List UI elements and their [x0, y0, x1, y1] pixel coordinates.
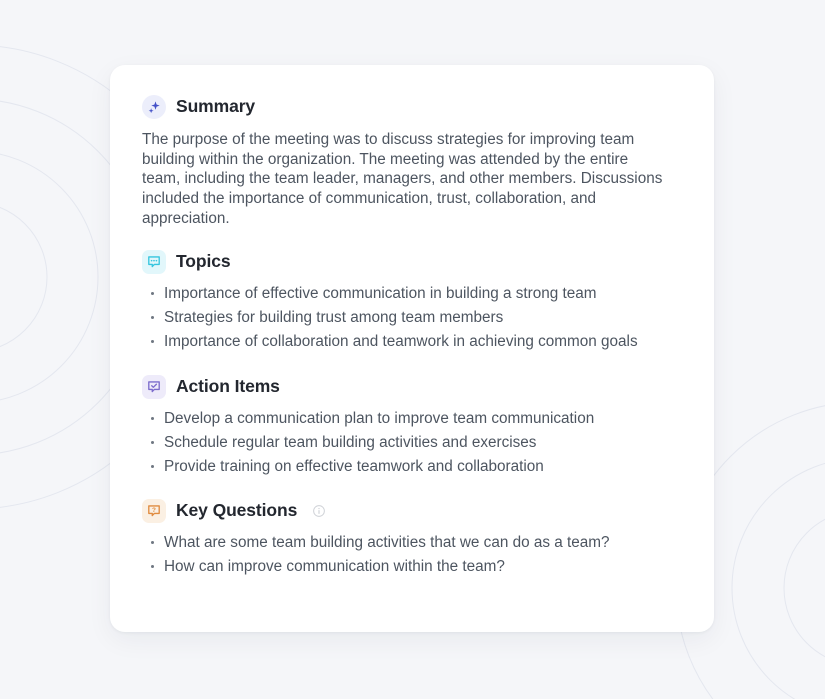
section-topics: Topics Importance of effective communica… — [142, 250, 682, 352]
info-circle-icon[interactable] — [312, 504, 326, 518]
summary-body-text: The purpose of the meeting was to discus… — [142, 130, 667, 229]
section-title-action-items: Action Items — [176, 378, 280, 396]
chat-bubble-question-icon: ? — [142, 499, 166, 523]
action-items-list: Develop a communication plan to improve … — [142, 409, 682, 477]
list-item: Strategies for building trust among team… — [142, 308, 672, 328]
section-summary: Summary The purpose of the meeting was t… — [142, 95, 682, 229]
list-item: Importance of effective communication in… — [142, 284, 672, 304]
chat-bubble-dots-icon — [142, 250, 166, 274]
chat-bubble-check-icon — [142, 375, 166, 399]
svg-text:?: ? — [152, 507, 156, 514]
section-title-topics: Topics — [176, 253, 231, 271]
sparkle-icon — [142, 95, 166, 119]
section-header-key-questions: ? Key Questions — [142, 499, 682, 523]
list-item: Importance of collaboration and teamwork… — [142, 332, 672, 352]
section-header-summary: Summary — [142, 95, 682, 119]
list-item: Develop a communication plan to improve … — [142, 409, 672, 429]
list-item: Provide training on effective teamwork a… — [142, 457, 672, 477]
section-key-questions: ? Key Questions What are some team build… — [142, 499, 682, 577]
list-item: How can improve communication within the… — [142, 557, 672, 577]
list-item: Schedule regular team building activitie… — [142, 433, 672, 453]
section-title-summary: Summary — [176, 98, 255, 116]
section-header-topics: Topics — [142, 250, 682, 274]
topics-list: Importance of effective communication in… — [142, 284, 682, 352]
section-action-items: Action Items Develop a communication pla… — [142, 375, 682, 477]
section-header-action-items: Action Items — [142, 375, 682, 399]
meeting-summary-card: Summary The purpose of the meeting was t… — [110, 65, 714, 632]
section-title-key-questions: Key Questions — [176, 502, 297, 520]
key-questions-list: What are some team building activities t… — [142, 533, 682, 577]
list-item: What are some team building activities t… — [142, 533, 672, 553]
